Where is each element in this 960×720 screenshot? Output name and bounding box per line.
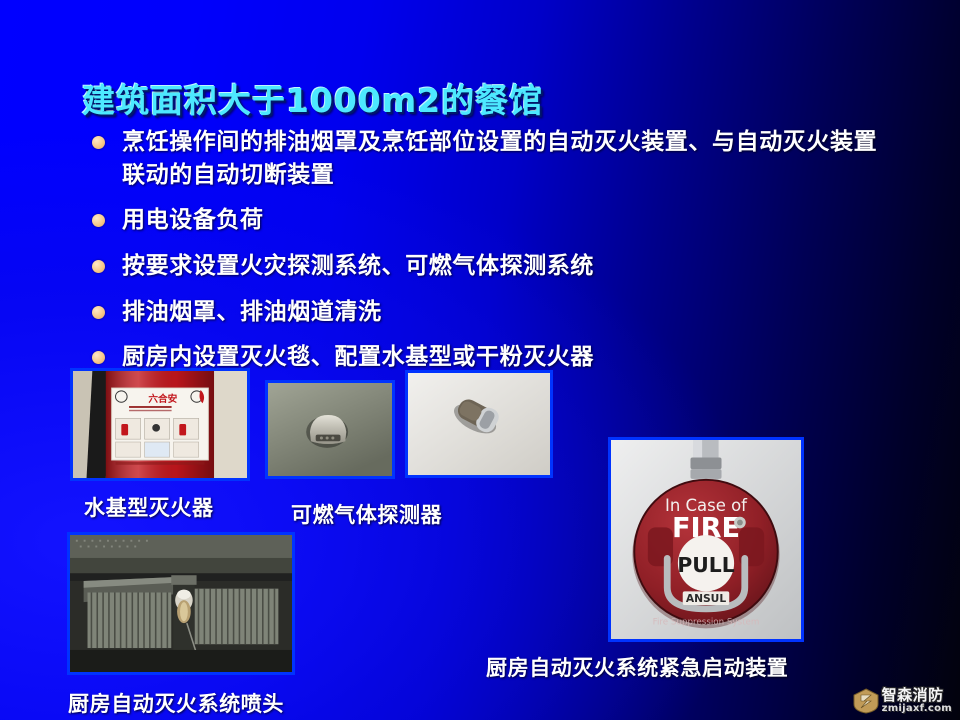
presentation-slide: 建筑面积大于1000m2的餐馆 烹饪操作间的排油烟罩及烹饪部位设置的自动灭火装置… — [0, 0, 960, 720]
bullet-dot-icon — [92, 306, 105, 319]
photo-kitchen-hood-nozzle — [67, 532, 295, 675]
bullet-item-1: 烹饪操作间的排油烟罩及烹饪部位设置的自动灭火装置、与自动灭火装置联动的自动切断装… — [92, 126, 892, 191]
bullet-item-label: 烹饪操作间的排油烟罩及烹饪部位设置的自动灭火装置、与自动灭火装置联动的自动切断装… — [122, 126, 892, 191]
bullet-dot-icon — [92, 260, 105, 273]
svg-text:In Case of: In Case of — [665, 496, 748, 515]
bullet-item-5: 厨房内设置灭火毯、配置水基型或干粉灭火器 — [92, 341, 892, 374]
svg-text:PULL: PULL — [677, 553, 734, 577]
watermark-url: zmijaxf.com — [882, 704, 952, 714]
bullet-dot-icon — [92, 214, 105, 227]
watermark: 智森消防 zmijaxf.com — [853, 688, 952, 714]
bullet-list: 烹饪操作间的排油烟罩及烹饪部位设置的自动灭火装置、与自动灭火装置联动的自动切断装… — [92, 126, 892, 387]
caption-water-based-extinguisher: 水基型灭火器 — [84, 492, 214, 522]
bullet-item-4: 排油烟罩、排油烟道清洗 — [92, 296, 892, 329]
svg-text:Fire Suppression System: Fire Suppression System — [653, 617, 760, 627]
bullet-item-label: 厨房内设置灭火毯、配置水基型或干粉灭火器 — [122, 341, 594, 374]
caption-combustible-gas-detector: 可燃气体探测器 — [291, 499, 442, 529]
watermark-name: 智森消防 — [882, 688, 952, 703]
shield-badge-icon — [853, 688, 879, 714]
svg-text:ANSUL: ANSUL — [686, 592, 726, 605]
bullet-item-2: 用电设备负荷 — [92, 204, 892, 237]
caption-emergency-pull-station: 厨房自动灭火系统紧急启动装置 — [486, 652, 788, 682]
bullet-dot-icon — [92, 351, 105, 364]
photo-combustible-gas-detector — [265, 380, 395, 479]
bullet-item-3: 按要求设置火灾探测系统、可燃气体探测系统 — [92, 250, 892, 283]
bullet-item-label: 用电设备负荷 — [122, 204, 264, 237]
slide-title: 建筑面积大于1000m2的餐馆 — [82, 74, 543, 122]
bullet-item-label: 按要求设置火灾探测系统、可燃气体探测系统 — [122, 250, 594, 283]
photo-emergency-pull-station: In Case of FIRE PULL ANSUL Fire Suppress… — [608, 437, 804, 642]
svg-text:六合安: 六合安 — [148, 393, 177, 405]
bullet-dot-icon — [92, 136, 105, 149]
caption-kitchen-hood-nozzle: 厨房自动灭火系统喷头 — [68, 688, 284, 718]
bullet-item-label: 排油烟罩、排油烟道清洗 — [122, 296, 382, 329]
